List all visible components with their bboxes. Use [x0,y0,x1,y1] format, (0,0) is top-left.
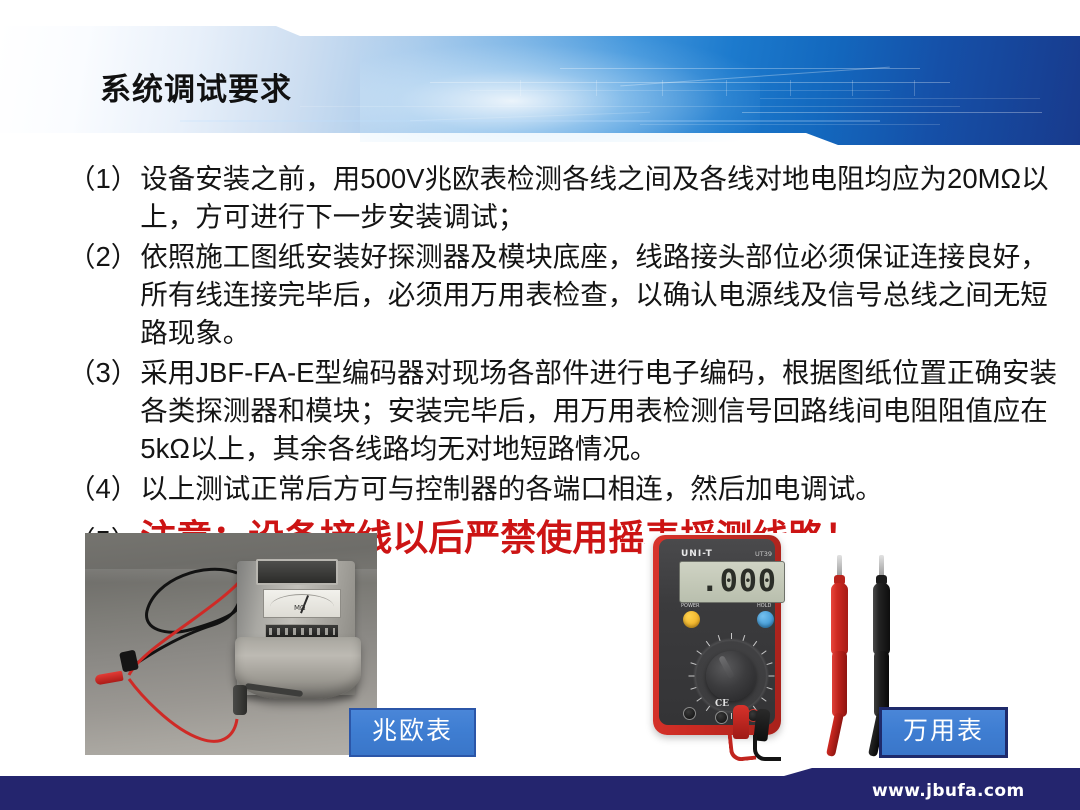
list-item-marker: （4） [68,470,140,508]
crank-arm [245,683,303,697]
multimeter-faceplate: UNI-T UT39 .000 POWER HOLD [659,539,775,725]
footer-url[interactable]: www.jbufa.com [872,781,1025,801]
probe-tip [879,555,884,577]
list-item: （4） 以上测试正常后方可与控制器的各端口相连，然后加电调试。 [68,470,1068,508]
list-item-marker: （1） [68,160,140,198]
probe-barrel [873,583,890,655]
list-item-text: 以上测试正常后方可与控制器的各端口相连，然后加电调试。 [140,470,1068,508]
crank-handle [233,685,247,715]
requirements-list: （1） 设备安装之前，用500V兆欧表检测各线之间及各线对地电阻均应为20MΩ以… [68,160,1068,562]
list-item-marker: （3） [68,354,140,392]
figure-caption-multimeter: 万用表 [879,707,1008,758]
list-item: （3） 采用JBF‑FA-E型编码器对现场各部件进行电子编码，根据图纸位置正确安… [68,354,1068,468]
input-jack-ma[interactable] [715,711,728,724]
list-item: （1） 设备安装之前，用500V兆欧表检测各线之间及各线对地电阻均应为20MΩ以… [68,160,1068,236]
list-item-marker: （2） [68,238,140,276]
lcd-display: .000 [679,561,785,603]
brand-label: UNI-T [681,549,713,559]
display-reading: .000 [701,565,777,598]
probe-barrel [831,583,848,655]
list-item-text: 采用JBF‑FA-E型编码器对现场各部件进行电子编码，根据图纸位置正确安装各类探… [140,354,1068,468]
rotary-selector-knob[interactable] [706,651,756,701]
list-item-text: 依照施工图纸安装好探测器及模块底座，线路接头部位必须保证连接良好，所有线连接完毕… [140,238,1068,352]
list-item: （2） 依照施工图纸安装好探测器及模块底座，线路接头部位必须保证连接良好，所有线… [68,238,1068,352]
page-title: 系统调试要求 [100,74,292,105]
black-lead-wire [753,735,781,761]
hold-button[interactable] [757,611,774,628]
input-jack-10a[interactable] [683,707,696,720]
hold-label: HOLD [757,603,771,609]
probe-tip [837,555,842,577]
scale-unit-label: MΩ [294,604,305,612]
megohmmeter-photo: MΩ [85,533,377,755]
probe-grip [832,651,847,717]
list-item-text: 设备安装之前，用500V兆欧表检测各线之间及各线对地电阻均应为20MΩ以上，方可… [140,160,1068,236]
power-button[interactable] [683,611,700,628]
power-label: POWER [681,603,700,609]
meter-top-panel [256,559,338,585]
hand-crank [231,683,305,717]
ce-mark-icon: CE [715,699,729,709]
analog-scale-dial: MΩ [263,589,341,618]
figure-caption-megohmmeter: 兆欧表 [349,708,476,757]
slide-root: 系统调试要求 （1） 设备安装之前，用500V兆欧表检测各线之间及各线对地电阻均… [0,0,1080,810]
model-label: UT39 [755,550,772,558]
probe-cable [826,712,844,757]
